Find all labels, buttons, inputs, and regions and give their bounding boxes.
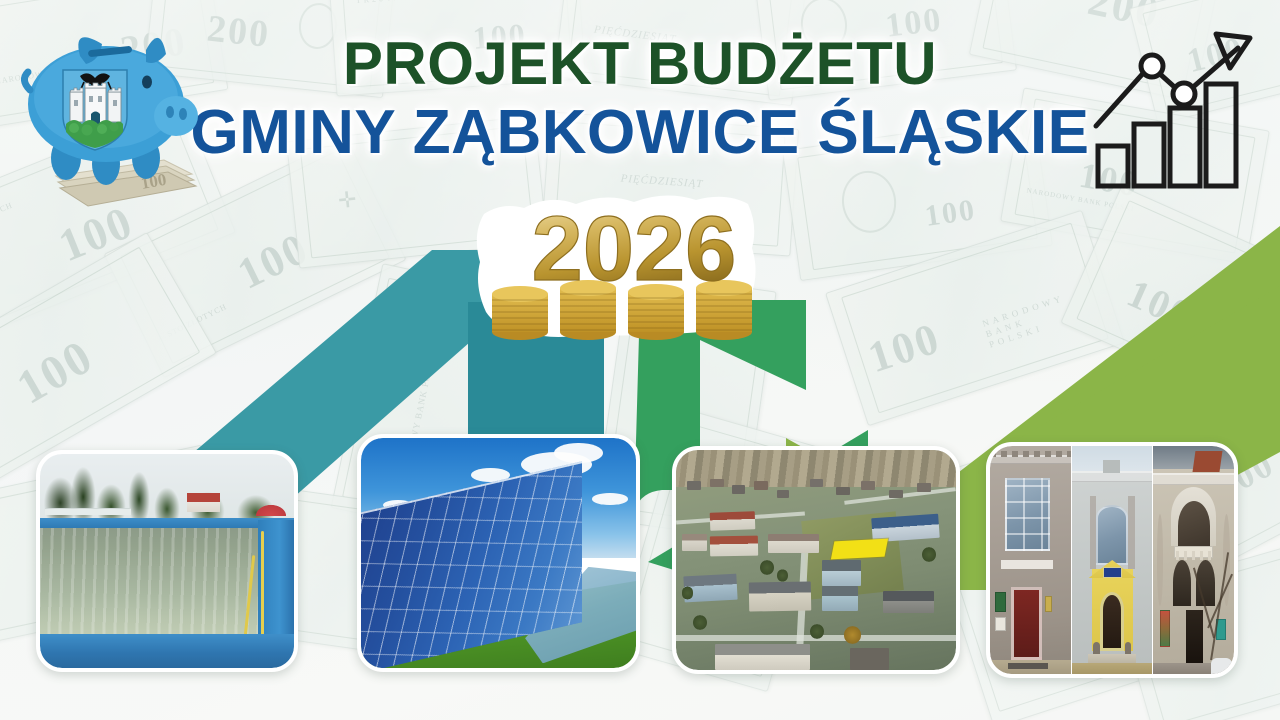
chart-node-1 [1141,55,1163,77]
heritage-panel-3 [1153,446,1234,674]
chart-bar-3 [1170,108,1200,186]
heritage-panel-1 [990,446,1071,674]
chart-trend-arrow [1096,48,1238,126]
chart-bar-2 [1134,124,1164,186]
piggy-bank-logo: 100 [14,8,214,208]
photo-swimming-pool[interactable]: Kąpielisko / basen odkryty [36,450,298,672]
highlighted-plot [831,539,888,559]
growth-chart-icon [1088,26,1258,191]
photo-heritage-buildings[interactable]: Zabytkowe kamienice i budynki użytecznoś… [986,442,1238,678]
year-digits: 2026 [532,198,737,300]
svg-text:2026: 2026 [474,188,510,192]
photo-aerial-estate[interactable]: Widok z lotu ptaka na osiedle z działką … [672,446,960,674]
chart-bar-1 [1098,146,1128,186]
chart-bar-4 [1206,84,1236,186]
photo-solar-farm[interactable]: Farma fotowoltaiczna [357,434,640,672]
coat-of-arms-zabkowice [63,70,127,150]
year-2026-coins-badge: 2026 2026 [474,188,794,366]
heritage-panel-2 [1072,446,1152,674]
poster-canvas: 200 NARODOWY BANK POLSKI 200 TR2047021 1… [0,0,1280,720]
chart-node-2 [1173,83,1195,105]
